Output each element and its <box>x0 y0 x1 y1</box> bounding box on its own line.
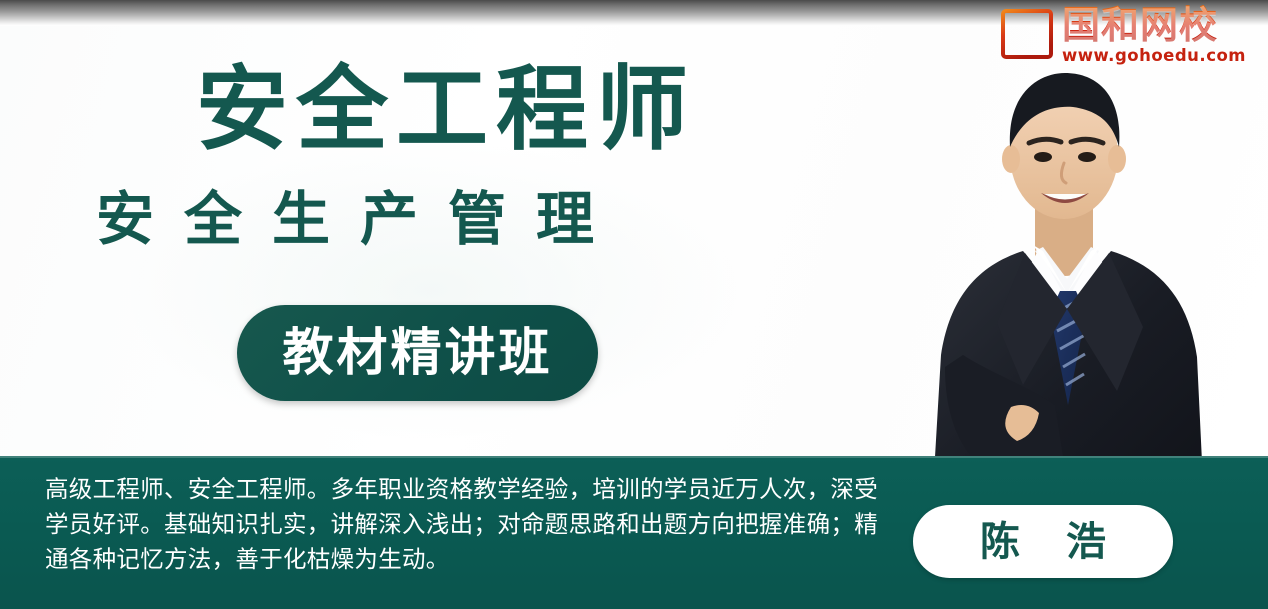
course-cover-banner: 国和网校 www.gohoedu.com 安全工程师 安全生产管理 教材精讲班 <box>0 0 1268 609</box>
square-seal-logo-icon <box>1000 7 1054 61</box>
bio-line: 高级工程师、安全工程师。多年职业资格教学经验，培训的学员近万人次，深受 <box>45 472 845 507</box>
page-subtitle: 安全生产管理 <box>96 185 624 253</box>
bio-line: 学员好评。基础知识扎实，讲解深入浅出；对命题思路和出题方向把握准确；精 <box>45 507 845 542</box>
page-title: 安全工程师 <box>196 58 696 162</box>
footer-divider <box>0 456 1268 458</box>
course-type-badge-label: 教材精讲班 <box>282 328 552 379</box>
course-type-badge[interactable]: 教材精讲班 <box>237 305 598 401</box>
brand-logo[interactable]: 国和网校 www.gohoedu.com <box>1000 5 1246 65</box>
instructor-bio: 高级工程师、安全工程师。多年职业资格教学经验，培训的学员近万人次，深受 学员好评… <box>45 472 845 577</box>
instructor-name: 陈 浩 <box>964 522 1122 562</box>
brand-name: 国和网校 <box>1062 5 1218 45</box>
instructor-nameplate: 陈 浩 <box>913 505 1173 578</box>
brand-logo-texts: 国和网校 www.gohoedu.com <box>1062 5 1246 65</box>
brand-url: www.gohoedu.com <box>1062 46 1246 65</box>
bio-line: 通各种记忆方法，善于化枯燥为生动。 <box>45 542 845 577</box>
